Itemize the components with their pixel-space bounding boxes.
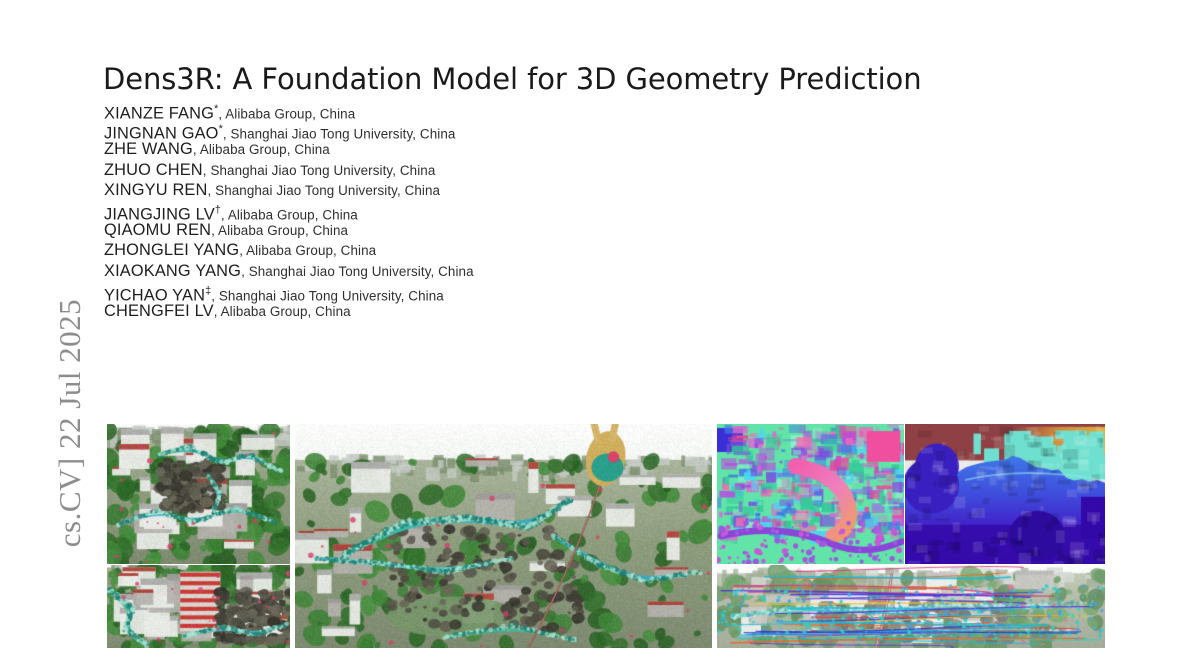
author-name: ZHUO CHEN [104, 161, 203, 179]
author-affiliation: , Alibaba Group, China [214, 304, 351, 319]
arxiv-identifier-stamp: cs.CV] 22 Jul 2025 [47, 233, 93, 613]
author-entry: XIAOKANG YANG, Shanghai Jiao Tong Univer… [104, 261, 1004, 281]
author-affiliation: , Alibaba Group, China [193, 142, 330, 157]
figure-panel-depth-map [905, 424, 1105, 564]
author-affiliation: , Shanghai Jiao Tong University, China [208, 183, 441, 198]
author-entry: JIANGJING LV†, Alibaba Group, China [104, 200, 1004, 220]
author-affiliation: , Alibaba Group, China [239, 243, 376, 258]
author-name: CHENGFEI LV [104, 302, 214, 320]
author-entry: YICHAO YAN‡, Shanghai Jiao Tong Universi… [104, 281, 1004, 301]
figure-panel-normal-map [717, 424, 904, 564]
author-entry: ZHE WANG, Alibaba Group, China [104, 139, 1004, 159]
author-entry: ZHUO CHEN, Shanghai Jiao Tong University… [104, 160, 1004, 180]
author-affiliation: , Shanghai Jiao Tong University, China [203, 163, 436, 178]
author-name: XINGYU REN [104, 181, 208, 199]
author-entry: JINGNAN GAO*, Shanghai Jiao Tong Univers… [104, 119, 1004, 139]
author-entry: CHENGFEI LV, Alibaba Group, China [104, 301, 1004, 321]
author-name: ZHE WANG [104, 140, 193, 158]
figure-panel-feature-matching [717, 565, 1105, 648]
author-entry: QIAOMU REN, Alibaba Group, China [104, 220, 1004, 240]
author-entry: XINGYU REN, Shanghai Jiao Tong Universit… [104, 180, 1004, 200]
teaser-figure [107, 424, 1109, 648]
author-list: XIANZE FANG*, Alibaba Group, ChinaJINGNA… [104, 99, 1004, 321]
figure-panel-photo-bottom-left [107, 565, 290, 648]
author-name: XIAOKANG YANG [104, 262, 241, 280]
figure-panel-photo-main [295, 424, 712, 648]
author-name: QIAOMU REN [104, 221, 211, 239]
author-name: ZHONGLEI YANG [104, 241, 239, 259]
author-affiliation: , Shanghai Jiao Tong University, China [241, 264, 474, 279]
figure-panel-photo-top-left [107, 424, 290, 564]
author-entry: XIANZE FANG*, Alibaba Group, China [104, 99, 1004, 119]
author-entry: ZHONGLEI YANG, Alibaba Group, China [104, 240, 1004, 260]
author-affiliation: , Alibaba Group, China [211, 223, 348, 238]
paper-page-column: Dens3R: A Foundation Model for 3D Geomet… [103, 0, 1113, 648]
page-title: Dens3R: A Foundation Model for 3D Geomet… [103, 61, 1113, 97]
